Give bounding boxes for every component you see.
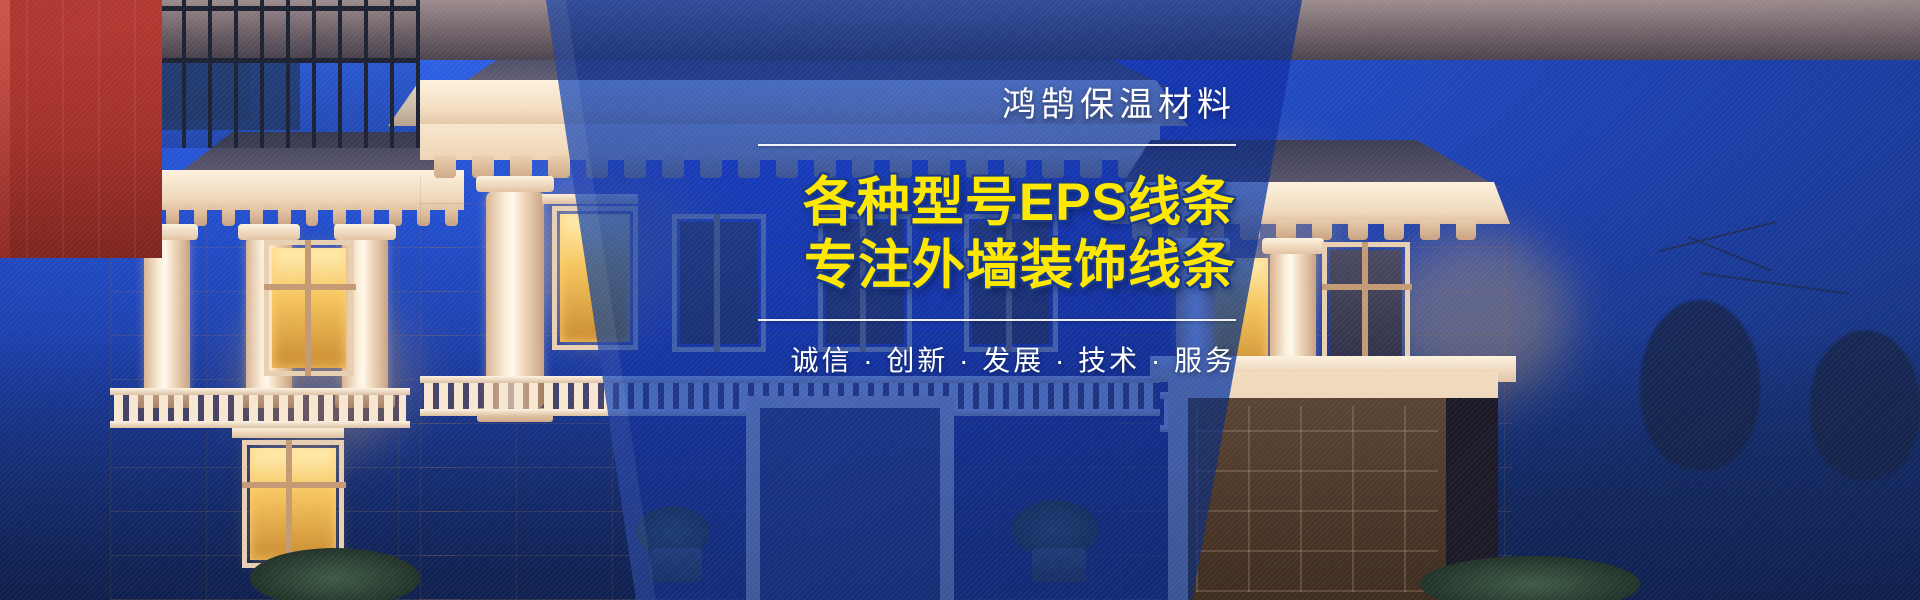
container-rib [62, 0, 64, 258]
banner-copy: 鸿鹄保温材料 各种型号EPS线条 专注外墙装饰线条 诚信 · 创新 · 发展 ·… [556, 88, 1236, 488]
tagline: 诚信 · 创新 · 发展 · 技术 · 服务 [790, 347, 1236, 375]
balustrade [110, 388, 410, 428]
column-capital [334, 224, 396, 240]
container-left-edge [0, 0, 10, 258]
column-capital [238, 224, 300, 240]
red-container-wall [0, 0, 162, 258]
window-hood [232, 428, 344, 438]
tree-silhouette [1810, 330, 1920, 480]
column-capital [476, 176, 554, 192]
window-mullion [286, 440, 292, 568]
divider-top [758, 144, 1236, 146]
shrub [250, 548, 420, 600]
brand-name: 鸿鹄保温材料 [1002, 88, 1236, 122]
window-mullion [305, 240, 311, 376]
cornice-left-wing [114, 170, 464, 210]
container-rib [26, 0, 28, 258]
hero-banner: 鸿鹄保温材料 各种型号EPS线条 专注外墙装饰线条 诚信 · 创新 · 发展 ·… [0, 0, 1920, 600]
column-capital [1262, 238, 1324, 254]
window-transom [242, 482, 346, 488]
headline-line-2: 专注外墙装饰线条 [804, 235, 1236, 298]
window-transom [264, 284, 356, 290]
dentil-row-left [138, 206, 458, 226]
container-rib [134, 0, 136, 258]
headline-line-1: 各种型号EPS线条 [803, 172, 1236, 235]
bare-branch [1700, 272, 1849, 295]
bare-branch [1688, 236, 1772, 272]
tree-silhouette [1640, 300, 1760, 470]
container-rib [98, 0, 100, 258]
divider-bottom [758, 319, 1236, 321]
window-transom [1322, 284, 1412, 290]
